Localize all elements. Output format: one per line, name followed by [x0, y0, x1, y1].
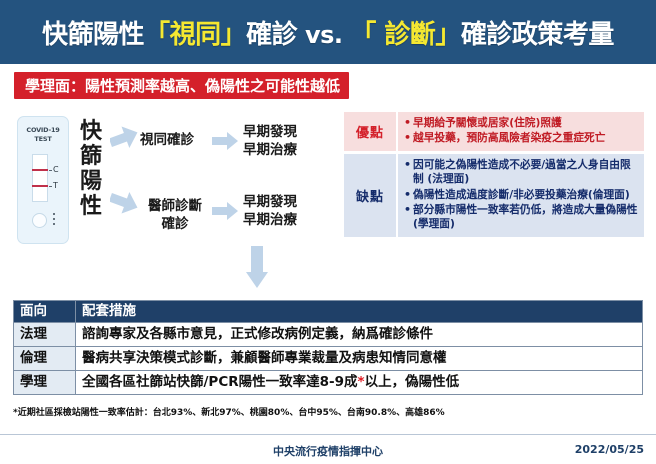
- footnote-text: *近期社區採檢站陽性一致率估計：台北93%、新北97%、桃園80%、台中95%、…: [13, 408, 643, 419]
- cons-row: 缺點 • 因可能之偽陽性造成不必要/過當之人身自由限制 (法理面) • 偽陽性造…: [344, 154, 644, 237]
- cell-measure: 諮詢專家及各縣市意見，正式修改病例定義，納爲確診條件: [76, 323, 643, 347]
- outcome-upper-line1: 早期發現: [243, 124, 297, 140]
- outcome-label-lower: 早期發現 早期治療: [243, 194, 297, 230]
- test-kit-dots: [53, 213, 55, 228]
- test-kit-result-window: [32, 154, 48, 202]
- table-row: 倫理 醫病共享決策模式診斷，兼顧醫師專業裁量及病患知情同意權: [14, 347, 643, 371]
- subtitle-region: 學理面：陽性預測率越高、偽陽性之可能性越低: [0, 64, 656, 106]
- footer-organization: 中央流行疫情指揮中心: [0, 443, 656, 459]
- bullet-icon: •: [404, 131, 413, 145]
- cell-aspect: 法理: [14, 323, 76, 347]
- cell-aspect: 學理: [14, 371, 76, 395]
- pros-label: 優點: [344, 112, 398, 151]
- cons-label: 缺點: [344, 154, 398, 237]
- cell-measure: 全國各區社篩站快篩/PCR陽性一致率達8-9成*以上，偽陽性低: [76, 371, 643, 395]
- diagram-source-label: 快篩陽性: [74, 120, 108, 219]
- flow-diagram: COVID-19 TEST C T 快篩陽性 視同確診 醫師診斷 確診: [0, 106, 336, 292]
- cell-measure-after: 以上，偽陽性低: [365, 374, 460, 390]
- table-body: 法理 諮詢專家及各縣市意見，正式修改病例定義，納爲確診條件 倫理 醫病共享決策模…: [14, 323, 643, 395]
- slide-footer: 中央流行疫情指揮中心 2022/05/25: [0, 434, 656, 464]
- cons-item-text: 因可能之偽陽性造成不必要/過當之人身自由限制 (法理面): [413, 158, 640, 186]
- arrow-down-right-icon: [110, 188, 140, 214]
- list-item: • 因可能之偽陽性造成不必要/過當之人身自由限制 (法理面): [404, 158, 640, 186]
- pros-list: • 早期給予關懷或居家(住院)照護 • 越早投藥，預防高風險者染疫之重症死亡: [398, 112, 644, 151]
- title-highlight-2: 「 診斷」: [350, 20, 461, 50]
- test-kit-label: COVID-19 TEST: [18, 126, 68, 144]
- pros-item-text: 越早投藥，預防高風險者染疫之重症死亡: [413, 131, 605, 145]
- slide-root: 快篩陽性「視同」確診 vs. 「 診斷」確診政策考量 學理面：陽性預測率越高、偽…: [0, 0, 656, 464]
- test-kit-sample-well: [32, 213, 47, 228]
- branch-label-lower-line1: 醫師診斷: [148, 198, 202, 214]
- title-vs: vs.: [297, 21, 350, 49]
- test-kit-test-tick: [49, 186, 52, 187]
- list-item: • 偽陽性造成過度診斷/非必要投藥治療(倫理面): [404, 188, 640, 202]
- list-item: • 越早投藥，預防高風險者染疫之重症死亡: [404, 131, 640, 145]
- bullet-icon: •: [404, 203, 413, 231]
- outcome-lower-line2: 早期治療: [243, 212, 297, 228]
- pros-cons-panel: 優點 • 早期給予關懷或居家(住院)照護 • 越早投藥，預防高風險者染疫之重症死…: [344, 112, 644, 237]
- cell-aspect: 倫理: [14, 347, 76, 371]
- test-kit-control-tick: [49, 170, 52, 171]
- column-header-measure: 配套措施: [76, 301, 643, 323]
- list-item: • 部分縣市陽性一致率若仍低，將造成大量偽陽性 (學理面): [404, 203, 640, 231]
- arrow-right-icon-lower: [212, 202, 238, 220]
- test-kit-control-letter: C: [53, 166, 59, 174]
- branch-label-lower-line2: 確診: [162, 216, 189, 232]
- test-kit-test-letter: T: [53, 182, 58, 190]
- slide-header: 快篩陽性「視同」確診 vs. 「 診斷」確診政策考量: [0, 0, 656, 64]
- footnote-marker: *: [358, 374, 365, 390]
- outcome-label-upper: 早期發現 早期治療: [243, 124, 297, 160]
- page-title: 快篩陽性「視同」確診 vs. 「 診斷」確診政策考量: [42, 14, 614, 51]
- cons-list: • 因可能之偽陽性造成不必要/過當之人身自由限制 (法理面) • 偽陽性造成過度…: [398, 154, 644, 237]
- outcome-upper-line2: 早期治療: [243, 142, 297, 158]
- table-row: 學理 全國各區社篩站快篩/PCR陽性一致率達8-9成*以上，偽陽性低: [14, 371, 643, 395]
- cons-item-text: 部分縣市陽性一致率若仍低，將造成大量偽陽性 (學理面): [413, 203, 640, 231]
- arrow-down-icon: [246, 246, 268, 288]
- outcome-lower-line1: 早期發現: [243, 194, 297, 210]
- column-header-aspect: 面向: [14, 301, 76, 323]
- cons-item-text: 偽陽性造成過度診斷/非必要投藥治療(倫理面): [413, 188, 630, 202]
- bullet-icon: •: [404, 116, 413, 130]
- table-header-row: 面向 配套措施: [14, 301, 643, 323]
- title-segment-2: 確診: [246, 20, 297, 50]
- covid-test-kit-icon: COVID-19 TEST C T: [17, 116, 69, 244]
- pros-item-text: 早期給予關懷或居家(住院)照護: [413, 116, 562, 130]
- footer-date: 2022/05/25: [575, 443, 644, 456]
- table-row: 法理 諮詢專家及各縣市意見，正式修改病例定義，納爲確診條件: [14, 323, 643, 347]
- test-kit-label-line2: TEST: [34, 135, 51, 143]
- test-kit-label-line1: COVID-19: [26, 126, 59, 134]
- cell-measure: 醫病共享決策模式診斷，兼顧醫師專業裁量及病患知情同意權: [76, 347, 643, 371]
- bullet-icon: •: [404, 158, 413, 186]
- arrow-up-right-icon: [110, 126, 140, 152]
- bullet-icon: •: [404, 188, 413, 202]
- cell-measure-before: 全國各區社篩站快篩/PCR陽性一致率達8-9成: [82, 374, 358, 390]
- subtitle-text: 學理面：陽性預測率越高、偽陽性之可能性越低: [25, 75, 340, 96]
- title-segment-1: 快篩陽性: [42, 20, 144, 50]
- branch-label-lower: 醫師診斷 確診: [140, 198, 210, 233]
- arrow-right-icon-upper: [212, 132, 238, 150]
- title-segment-3: 確診政策考量: [461, 20, 614, 50]
- test-kit-test-line: [32, 185, 48, 187]
- table-head: 面向 配套措施: [14, 301, 643, 323]
- branch-label-upper: 視同確診: [140, 132, 194, 150]
- pros-row: 優點 • 早期給予關懷或居家(住院)照護 • 越早投藥，預防高風險者染疫之重症死…: [344, 112, 644, 151]
- subtitle-banner: 學理面：陽性預測率越高、偽陽性之可能性越低: [14, 72, 349, 99]
- test-kit-control-line: [32, 169, 48, 171]
- title-highlight-1: 「視同」: [144, 20, 246, 50]
- list-item: • 早期給予關懷或居家(住院)照護: [404, 116, 640, 130]
- measures-table: 面向 配套措施 法理 諮詢專家及各縣市意見，正式修改病例定義，納爲確診條件 倫理…: [13, 300, 643, 395]
